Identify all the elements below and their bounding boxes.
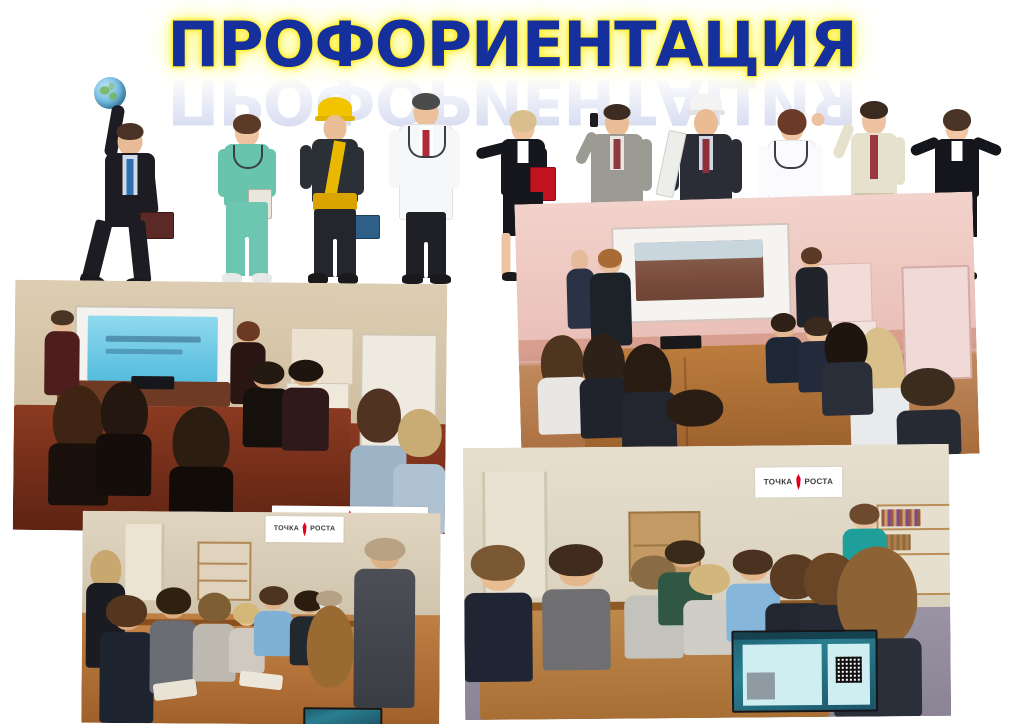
slide-text-line [105, 336, 200, 343]
slide-sky [635, 239, 764, 261]
torso [464, 593, 533, 682]
doorway [125, 524, 164, 601]
torso [95, 434, 152, 496]
classroom-scene: ТОЧКА РОСТА [13, 280, 448, 535]
blouse [952, 141, 963, 161]
hair [666, 388, 724, 426]
bottom-left-scene: ТОЧКА РОСТА [81, 511, 440, 724]
torso [542, 588, 611, 670]
hair [548, 544, 603, 576]
hair [106, 595, 147, 627]
logo-text-left: ТОЧКА [764, 477, 793, 486]
hair [860, 101, 888, 119]
arm-right [812, 145, 823, 199]
photo-bottom-right[interactable]: ТОЧКА РОСТА [463, 444, 951, 720]
hair [597, 248, 622, 268]
hair [771, 312, 796, 332]
laptop[interactable] [732, 629, 879, 712]
tochka-rosta-mark-icon [301, 522, 308, 536]
hair [236, 321, 260, 340]
arm-right [352, 147, 364, 195]
browser-toolbar [734, 631, 876, 639]
person-businessman-globe [70, 79, 190, 287]
hair [510, 110, 537, 132]
student-seated [541, 550, 610, 670]
hair [233, 114, 261, 134]
torso [254, 611, 294, 656]
slide-text-line [105, 348, 183, 354]
presenter-left [44, 313, 79, 396]
student-seated [99, 600, 154, 723]
arm-right [730, 139, 742, 193]
leg-gap [245, 237, 249, 279]
hair [943, 109, 971, 131]
person-construction-worker [292, 89, 378, 287]
hair [900, 367, 955, 407]
necktie [870, 135, 878, 179]
hair [250, 361, 284, 384]
torso [821, 361, 873, 416]
laptop-screen [732, 629, 879, 712]
student-front-left [464, 551, 533, 682]
arm-right [640, 139, 652, 191]
hair [470, 544, 525, 581]
laptop-bottom[interactable] [303, 707, 382, 724]
head [571, 250, 589, 271]
presenter-female-standing [589, 251, 633, 346]
poster-canvas: ПРОФОРИЕНТАЦИЯ ПРОФОРИЕНТАЦИЯ [0, 0, 1024, 724]
logo-text-right: РОСТА [804, 477, 833, 486]
laptop-screen [303, 707, 382, 724]
hair [259, 586, 288, 605]
side-door [901, 265, 972, 381]
student-blue-shirt [254, 588, 294, 656]
hair [316, 591, 342, 607]
shoe-left [402, 274, 423, 284]
logo-text-left: ТОЧКА [274, 526, 299, 533]
hair [156, 588, 192, 615]
hair [198, 593, 231, 622]
student-seated [95, 386, 152, 497]
photo-pink-hall-top-right[interactable] [514, 192, 979, 467]
arm-left [218, 149, 229, 197]
qr-code [836, 656, 862, 683]
student-standing-right [353, 542, 415, 708]
hair [51, 310, 73, 325]
head [324, 115, 347, 142]
hair [364, 537, 406, 560]
student-seated [281, 363, 329, 451]
photo-bottom-left[interactable]: ТОЧКА РОСТА [81, 511, 440, 724]
mobile-phone-icon [590, 113, 598, 127]
arm-right [894, 137, 905, 185]
bottom-right-scene: ТОЧКА РОСТА [463, 444, 951, 720]
arm-left [300, 145, 312, 189]
leg-gap [424, 242, 428, 278]
hair [307, 605, 355, 688]
hair [604, 104, 631, 120]
arm-left [758, 145, 769, 199]
person-doctor-male [382, 82, 470, 287]
student-front-right [895, 370, 961, 456]
hair [117, 123, 144, 140]
head [694, 109, 718, 137]
page-thumbnail [747, 673, 776, 700]
hair [664, 540, 705, 565]
hair [412, 93, 440, 110]
bookcase-shelf [197, 579, 247, 581]
torso [281, 387, 329, 450]
bookcase-shelf [197, 562, 247, 564]
photo-presentation-left[interactable]: ТОЧКА РОСТА [13, 280, 448, 535]
hair [778, 109, 807, 135]
tochka-rosta-logo: ТОЧКА РОСТА [265, 516, 344, 542]
hair [398, 409, 442, 457]
necktie [127, 159, 134, 195]
tochka-rosta-mark-icon [794, 474, 802, 490]
blouse [518, 141, 529, 163]
necktie [703, 139, 710, 173]
leg-left [502, 233, 511, 275]
trousers-left [82, 219, 113, 281]
logo-text-right: РОСТА [310, 526, 335, 533]
globe-icon [94, 77, 126, 109]
hoodie [353, 569, 415, 708]
pink-hall-scene [514, 192, 979, 467]
student-dark-right [820, 326, 873, 416]
arm-right [448, 130, 460, 188]
hair [849, 504, 879, 525]
tochka-rosta-logo: ТОЧКА РОСТА [755, 467, 843, 498]
person-nurse [208, 97, 286, 287]
stethoscope-icon [408, 126, 446, 158]
hair [801, 247, 822, 265]
necktie [614, 139, 621, 169]
torso [99, 632, 153, 723]
hand-ok-icon [812, 113, 825, 126]
hair [689, 564, 730, 594]
books [881, 509, 920, 526]
arm-left [389, 130, 401, 188]
bookcase [197, 541, 252, 600]
shoe-right [430, 274, 451, 284]
stethoscope-icon [774, 141, 808, 169]
leg-gap [333, 239, 337, 277]
hair [289, 359, 323, 382]
